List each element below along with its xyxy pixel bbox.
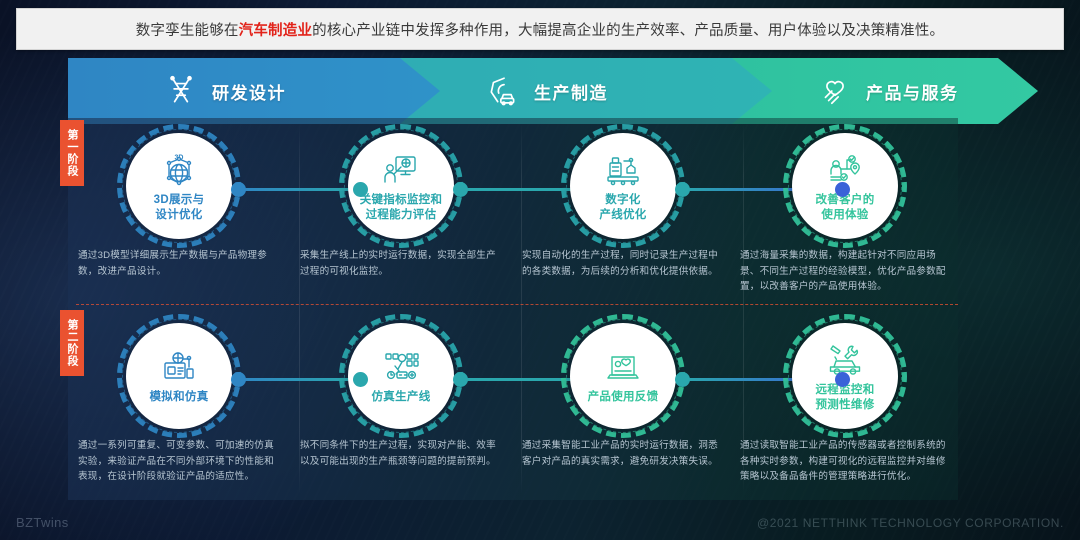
stage-card[interactable]: 数字化 产线优化 实现自动化的生产过程，同时记录生产过程中的各类数据，为后续的分…	[512, 118, 734, 304]
stage-card[interactable]: 远程监控和 预测性维修 通过读取智能工业产品的传感器或者控制系统的各种实时参数，…	[734, 308, 956, 494]
simulation-screen-icon	[157, 347, 201, 387]
card-description: 拟不同条件下的生产过程，实现对产能、效率以及可能出现的生产瓶颈等问题的提前预判。	[300, 438, 502, 469]
stages-panel: 第一阶段 第二阶段 3D	[68, 118, 958, 500]
stage-card[interactable]: 产品使用反馈 通过采集智能工业产品的实时运行数据，洞悉客户对产品的真实需求，避免…	[512, 308, 734, 494]
connector-node-5	[835, 182, 850, 197]
stage-row-2: 模拟和仿真 通过一系列可重复、可变参数、可加速的仿真实验，来验证产品在不同外部环…	[68, 308, 958, 494]
footer-brand: BZTwins	[16, 515, 69, 530]
circle-face: 模拟和仿真	[126, 323, 232, 429]
phase-arrow-label-2: 生产制造	[534, 79, 608, 104]
card-title: 远程监控和 预测性维修	[816, 383, 875, 412]
connector-node-3	[453, 372, 468, 387]
card-title: 3D展示与 设计优化	[154, 193, 205, 222]
circle-face: 产品使用反馈	[570, 323, 676, 429]
card-description: 通过海量采集的数据，构建起针对不同应用场景、不同生产过程的经验模型，优化产品参数…	[740, 248, 950, 295]
monitor-person-icon	[379, 150, 423, 190]
stage-row-1: 3D 3D展示与 设计优化 通过3D模型详细展示生产数据与产品物理参数，改进产	[68, 118, 958, 304]
card-description: 通过3D模型详细展示生产数据与产品物理参数，改进产品设计。	[78, 248, 280, 279]
connector-node-4	[675, 182, 690, 197]
card-circle[interactable]: 产品使用反馈	[561, 314, 685, 438]
connector-node-4	[675, 372, 690, 387]
footer-copyright: @2021 NETTHINK TECHNOLOGY CORPORATION.	[757, 516, 1064, 530]
header-text-after: 的核心产业链中发挥多种作用，大幅提高企业的生产效率、产品质量、用户体验以及决策精…	[312, 23, 944, 39]
card-description: 通过读取智能工业产品的传感器或者控制系统的各种实时参数，构建可视化的远程监控并对…	[740, 438, 950, 485]
stage-card[interactable]: 仿真生产线 拟不同条件下的生产过程，实现对产能、效率以及可能出现的生产瓶颈等问题…	[290, 308, 512, 494]
header-highlight: 汽车制造业	[239, 23, 313, 39]
card-circle[interactable]: 3D 3D展示与 设计优化	[117, 124, 241, 248]
connector-node-5	[835, 372, 850, 387]
phase-arrow-2[interactable]: 生产制造	[400, 58, 790, 124]
connector-node-2	[353, 182, 368, 197]
connector-node-2	[353, 372, 368, 387]
header-text-before: 数字孪生能够在	[136, 23, 239, 39]
card-circle[interactable]: 模拟和仿真	[117, 314, 241, 438]
3d-globe-icon: 3D	[157, 150, 201, 190]
card-title: 产品使用反馈	[588, 390, 659, 404]
stage-divider	[76, 304, 958, 305]
card-description: 实现自动化的生产过程，同时记录生产过程中的各类数据，为后续的分析和优化提供依据。	[522, 248, 724, 279]
handshake-heart-icon	[818, 74, 852, 108]
circle-face: 数字化 产线优化	[570, 133, 676, 239]
header-banner: 数字孪生能够在汽车制造业的核心产业链中发挥多种作用，大幅提高企业的生产效率、产品…	[16, 8, 1064, 50]
card-description: 通过一系列可重复、可变参数、可加速的仿真实验，来验证产品在不同外部环境下的性能和…	[78, 438, 280, 485]
card-title: 数字化 产线优化	[599, 193, 646, 222]
design-compass-icon	[164, 74, 198, 108]
card-title: 仿真生产线	[372, 390, 431, 404]
laptop-feedback-icon	[601, 347, 645, 387]
car-manufacture-icon	[486, 74, 520, 108]
phase-arrow-label-3: 产品与服务	[866, 79, 959, 104]
connector-node-1	[231, 372, 246, 387]
card-circle[interactable]: 数字化 产线优化	[561, 124, 685, 248]
card-title: 模拟和仿真	[150, 390, 209, 404]
circle-face: 3D 3D展示与 设计优化	[126, 133, 232, 239]
phase-arrow-label-1: 研发设计	[212, 79, 286, 104]
stage-card[interactable]: 3D 3D展示与 设计优化 通过3D模型详细展示生产数据与产品物理参数，改进产	[68, 118, 290, 304]
factory-line-icon	[601, 150, 645, 190]
phase-arrow-ribbon: 研发设计 生产制造	[68, 58, 1038, 124]
phase-arrow-3[interactable]: 产品与服务	[732, 58, 1038, 124]
stage-card[interactable]: 模拟和仿真 通过一系列可重复、可变参数、可加速的仿真实验，来验证产品在不同外部环…	[68, 308, 290, 494]
card-description: 通过采集智能工业产品的实时运行数据，洞悉客户对产品的真实需求，避免研发决策失误。	[522, 438, 724, 469]
connector-node-1	[231, 182, 246, 197]
phase-arrow-1[interactable]: 研发设计	[68, 58, 458, 124]
robot-arm-icon	[379, 347, 423, 387]
page-title: 数字孪生能够在汽车制造业的核心产业链中发挥多种作用，大幅提高企业的生产效率、产品…	[136, 19, 945, 40]
card-title: 改善客户的 使用体验	[816, 193, 875, 222]
card-title: 关键指标监控和 过程能力评估	[360, 193, 443, 222]
card-description: 采集生产线上的实时运行数据，实现全部生产过程的可视化监控。	[300, 248, 502, 279]
stage-card[interactable]: 改善客户的 使用体验 通过海量采集的数据，构建起针对不同应用场景、不同生产过程的…	[734, 118, 956, 304]
stage-card[interactable]: 关键指标监控和 过程能力评估 采集生产线上的实时运行数据，实现全部生产过程的可视…	[290, 118, 512, 304]
connector-node-3	[453, 182, 468, 197]
